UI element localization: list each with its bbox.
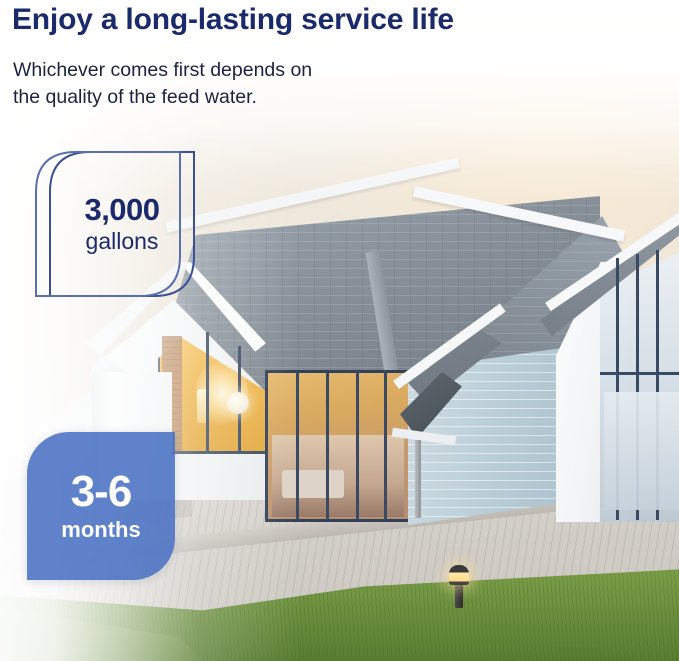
interval-badge-text: 3-6 months <box>27 432 175 580</box>
capacity-value: 3,000 <box>84 194 159 225</box>
page-subtitle: Whichever comes first depends on the qua… <box>13 57 443 111</box>
interval-value: 3-6 <box>71 470 132 514</box>
capacity-unit: gallons <box>86 228 159 254</box>
bifold-mullion <box>356 371 359 520</box>
lower-glazing-panel <box>604 392 679 510</box>
interval-badge: 3-6 months <box>27 432 175 580</box>
glazing-transom <box>600 372 679 375</box>
page-title: Enjoy a long-lasting service life <box>12 2 652 37</box>
downpipe <box>415 440 421 518</box>
capacity-badge: 3,000 gallons <box>46 148 198 300</box>
infographic-canvas: Enjoy a long-lasting service life Whiche… <box>0 0 679 661</box>
bifold-mullion <box>326 372 329 520</box>
interval-unit: months <box>61 518 140 542</box>
bollard-light-head <box>449 565 469 585</box>
capacity-badge-text: 3,000 gallons <box>46 148 198 300</box>
bifold-mullion <box>384 371 387 520</box>
